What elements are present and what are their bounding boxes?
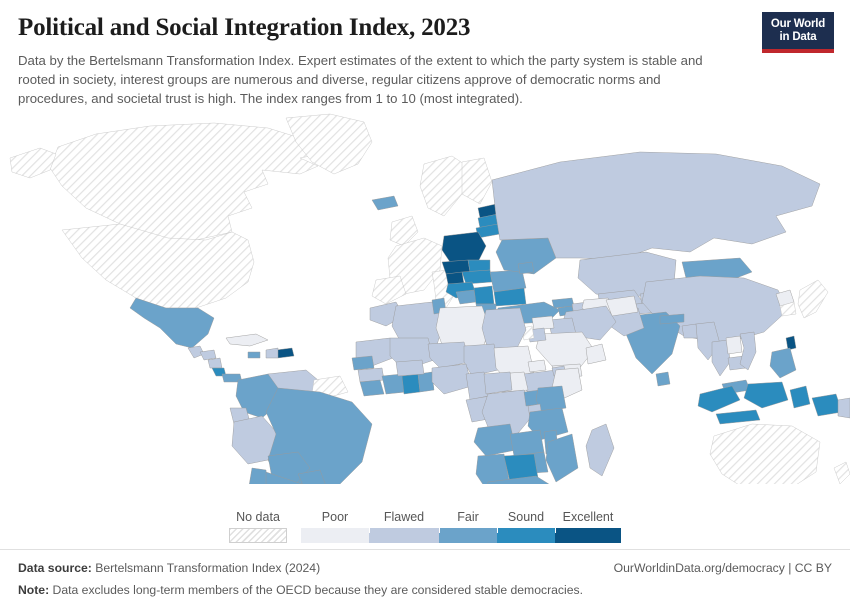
owid-logo-line1: Our World bbox=[768, 18, 828, 31]
country-nepal[interactable] bbox=[660, 314, 684, 324]
country-sri-lanka[interactable] bbox=[656, 372, 670, 386]
country-papua-new-guinea[interactable] bbox=[838, 398, 850, 418]
footer-note: Note: Data excludes long-term members of… bbox=[18, 581, 832, 600]
chart-header: Political and Social Integration Index, … bbox=[0, 0, 850, 108]
country-alaska[interactable] bbox=[10, 148, 56, 178]
country-nicaragua[interactable] bbox=[208, 358, 222, 368]
country-burkina-faso[interactable] bbox=[396, 360, 424, 376]
country-dominican-republic[interactable] bbox=[276, 348, 294, 358]
legend-segment-flawed[interactable] bbox=[369, 528, 439, 543]
legend-segment-poor[interactable] bbox=[301, 528, 369, 543]
legend-scale[interactable]: Poor Flawed Fair Sound Excellent bbox=[301, 510, 621, 543]
country-egypt[interactable] bbox=[482, 308, 526, 350]
country-jamaica[interactable] bbox=[248, 352, 260, 358]
country-usa[interactable] bbox=[62, 224, 254, 308]
country-sierra-leone-liberia[interactable] bbox=[360, 380, 384, 396]
country-chad[interactable] bbox=[464, 344, 498, 376]
country-vietnam[interactable] bbox=[740, 332, 756, 370]
country-new-zealand[interactable] bbox=[834, 462, 850, 484]
country-cuba[interactable] bbox=[226, 334, 268, 346]
country-philippines[interactable] bbox=[770, 348, 796, 378]
legend-label-flawed: Flawed bbox=[369, 510, 439, 524]
country-slovenia[interactable] bbox=[446, 272, 464, 284]
region-north-america[interactable] bbox=[10, 114, 372, 308]
country-moldova[interactable] bbox=[518, 262, 534, 274]
legend-label-sound: Sound bbox=[497, 510, 555, 524]
country-eritrea[interactable] bbox=[528, 360, 546, 372]
map-legend: No data Poor Flawed Fair Sound Excellent bbox=[0, 510, 850, 543]
country-serbia[interactable] bbox=[474, 286, 494, 304]
legend-scale-bar[interactable] bbox=[301, 528, 621, 543]
legend-no-data-label: No data bbox=[236, 510, 280, 524]
country-finland[interactable] bbox=[462, 158, 492, 204]
region-asia[interactable] bbox=[606, 276, 850, 424]
country-taiwan[interactable] bbox=[786, 336, 796, 350]
country-iberia[interactable] bbox=[372, 276, 406, 304]
region-oceania[interactable] bbox=[710, 424, 850, 484]
legend-scale-labels: Poor Flawed Fair Sound Excellent bbox=[301, 510, 621, 528]
country-senegal[interactable] bbox=[352, 356, 374, 370]
footer-source: Data source: Bertelsmann Transformation … bbox=[18, 559, 320, 578]
country-australia[interactable] bbox=[710, 424, 820, 484]
legend-segment-excellent[interactable] bbox=[555, 528, 621, 543]
legend-no-data[interactable]: No data bbox=[229, 510, 287, 543]
country-hungary[interactable] bbox=[462, 270, 492, 284]
footer-source-row: Data source: Bertelsmann Transformation … bbox=[18, 559, 832, 578]
country-ghana[interactable] bbox=[402, 374, 420, 394]
country-indonesia-borneo[interactable] bbox=[744, 382, 788, 408]
world-map[interactable]: No data Poor Flawed Fair Sound Excellent bbox=[0, 112, 850, 549]
country-honduras[interactable] bbox=[200, 350, 216, 360]
legend-segment-fair[interactable] bbox=[439, 528, 497, 543]
country-nigeria[interactable] bbox=[432, 364, 472, 394]
country-angola[interactable] bbox=[474, 424, 516, 456]
region-latin-america[interactable] bbox=[130, 298, 372, 484]
country-central-african-republic[interactable] bbox=[484, 372, 512, 394]
legend-label-excellent: Excellent bbox=[555, 510, 621, 524]
country-indonesia-java[interactable] bbox=[716, 410, 760, 424]
footer-source-value: Bertelsmann Transformation Index (2024) bbox=[95, 561, 320, 575]
owid-chart: Political and Social Integration Index, … bbox=[0, 0, 850, 600]
legend-no-data-swatch bbox=[229, 528, 287, 543]
chart-footer: Data source: Bertelsmann Transformation … bbox=[0, 549, 850, 600]
legend-label-poor: Poor bbox=[301, 510, 369, 524]
owid-logo[interactable]: Our World in Data bbox=[762, 12, 834, 53]
country-bangladesh[interactable] bbox=[682, 324, 698, 338]
legend-segment-sound[interactable] bbox=[497, 528, 555, 543]
footer-note-label: Note: bbox=[18, 583, 49, 597]
country-laos[interactable] bbox=[726, 336, 742, 354]
country-indonesia-sumatra[interactable] bbox=[698, 386, 740, 412]
country-haiti[interactable] bbox=[266, 348, 278, 358]
country-indonesia-papua[interactable] bbox=[812, 394, 842, 416]
country-mozambique[interactable] bbox=[546, 434, 578, 482]
legend-label-fair: Fair bbox=[439, 510, 497, 524]
owid-logo-line2: in Data bbox=[768, 31, 828, 44]
country-madagascar[interactable] bbox=[586, 424, 614, 476]
country-zambia[interactable] bbox=[510, 430, 544, 456]
footer-source-label: Data source: bbox=[18, 561, 92, 575]
country-iceland[interactable] bbox=[372, 196, 398, 210]
country-japan[interactable] bbox=[798, 280, 828, 318]
world-map-svg[interactable] bbox=[0, 112, 850, 484]
chart-subtitle: Data by the Bertelsmann Transformation I… bbox=[18, 51, 712, 108]
country-indonesia-sulawesi[interactable] bbox=[790, 386, 810, 408]
country-poland[interactable] bbox=[442, 232, 486, 262]
footer-note-value: Data excludes long-term members of the O… bbox=[53, 583, 583, 597]
country-bosnia[interactable] bbox=[456, 290, 476, 304]
page-title: Political and Social Integration Index, … bbox=[18, 14, 682, 42]
legend-inner: No data Poor Flawed Fair Sound Excellent bbox=[229, 510, 621, 543]
country-benin-togo[interactable] bbox=[418, 372, 434, 392]
footer-attribution[interactable]: OurWorldinData.org/democracy | CC BY bbox=[614, 559, 832, 578]
